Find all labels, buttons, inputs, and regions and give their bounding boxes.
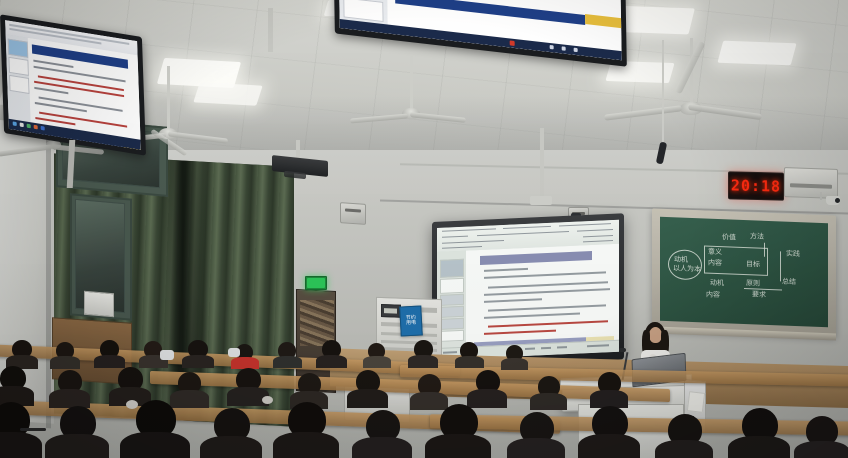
monitor-screen: [338, 0, 621, 60]
bench-row: [430, 414, 848, 436]
clock-time: 20:18: [731, 176, 781, 195]
ac-vent: [790, 184, 832, 189]
student-shoulders: [352, 437, 412, 458]
fan-rod: [410, 56, 413, 110]
chalk-note: 价值: [722, 233, 736, 243]
student-shoulders: [363, 356, 391, 368]
energy-sign-text: 节约 用电: [406, 315, 417, 327]
student-shoulders: [0, 432, 42, 458]
chalk-note: 以人为本: [673, 264, 701, 274]
face-mask: [160, 350, 174, 360]
hair-accessory: [262, 396, 273, 404]
student-shoulders: [408, 355, 438, 368]
eyeglasses: [20, 428, 46, 431]
student-shoulders: [170, 390, 209, 408]
student-shoulders: [316, 355, 347, 368]
face-mask: [228, 348, 240, 357]
monitor-mount-arm: [268, 8, 273, 52]
student-shoulders: [794, 441, 848, 458]
camera-mount: [820, 192, 822, 200]
hair-accessory: [126, 400, 138, 409]
monitor-screen: [5, 20, 141, 150]
led-wall-clock: 20:18: [728, 171, 784, 200]
student-shoulders: [347, 389, 388, 408]
student-shoulders: [200, 436, 262, 458]
camera-lens: [835, 198, 840, 203]
interactive-whiteboard-screen[interactable]: [437, 220, 619, 360]
green-chalkboard[interactable]: 动机 以人为本 意义 内容 价值 方法 目标 原则 要求 实践 总结 动机 内容: [660, 217, 828, 327]
student-shoulders: [578, 434, 640, 458]
student-shoulders: [182, 355, 214, 368]
ceiling-fan: [636, 38, 746, 134]
meter-display: [384, 308, 397, 313]
page-thumbnail[interactable]: [440, 278, 464, 294]
chalk-note: 意义: [708, 248, 722, 258]
projector-mount-rod: [540, 128, 544, 198]
fan-rod: [167, 66, 170, 130]
student-shoulders: [530, 393, 567, 410]
document-heading-bar: [480, 251, 592, 265]
chalk-note: 方法: [750, 232, 764, 242]
page-thumbnail[interactable]: [440, 306, 464, 318]
security-camera: [826, 196, 840, 205]
student-shoulders: [728, 436, 790, 458]
student-shoulders: [273, 356, 302, 368]
student-shoulders: [455, 356, 484, 368]
exit-sign-glow: [307, 278, 325, 288]
page-thumbnail[interactable]: [8, 57, 29, 76]
student-shoulders: [410, 392, 448, 410]
student-shoulders: [49, 389, 90, 408]
chalk-note: 动机: [710, 279, 724, 289]
chalk-note: 目标: [746, 260, 760, 270]
wall-speaker: [340, 202, 366, 225]
student-shoulders: [655, 440, 713, 458]
hanging-microphone: [662, 40, 664, 144]
chalk-note: 内容: [708, 259, 722, 269]
speaker-grill: [345, 209, 360, 213]
student-shoulders: [231, 357, 259, 369]
wall-air-conditioner: [784, 167, 838, 199]
emergency-exit-sign: [305, 276, 327, 290]
page-thumbnail[interactable]: [8, 39, 29, 58]
ceiling-monitor-left: [0, 18, 150, 178]
student-shoulders: [45, 434, 109, 458]
chalk-note: 实践: [786, 250, 800, 260]
shelf-box: [84, 291, 114, 318]
student-shoulders: [50, 356, 80, 369]
chalk-note: 原则: [746, 279, 760, 289]
student-shoulders: [467, 389, 507, 408]
energy-saving-sign: 节约 用电: [399, 305, 423, 336]
chalk-brace: [780, 251, 781, 281]
page-thumbnail[interactable]: [440, 294, 464, 306]
chalk-note: 内容: [706, 291, 720, 301]
page-thumbnail[interactable]: [440, 318, 464, 330]
student-shoulders: [501, 358, 528, 370]
page-thumbnail[interactable]: [9, 75, 30, 94]
lecture-hall-photo: 20:18 动机 以人为本 意义 内容 价值 方法 目标 原则 要求 实践 总结…: [0, 0, 848, 458]
document-view: [5, 20, 141, 150]
seated-students: [0, 340, 848, 458]
student-shoulders: [120, 432, 190, 458]
document-view: [338, 0, 621, 60]
footer-blue-bar: [395, 0, 585, 25]
student-shoulders: [425, 434, 491, 458]
chalk-arrow: [764, 243, 765, 257]
page-thumbnail[interactable]: [440, 259, 464, 278]
electric-meter: [381, 304, 401, 318]
page-thumbnail[interactable]: [343, 0, 383, 22]
student-shoulders: [273, 432, 339, 458]
document-page: [466, 243, 619, 348]
student-shoulders: [507, 438, 565, 458]
chalk-note: 要求: [752, 290, 766, 300]
student-shoulders: [94, 355, 125, 368]
ceiling-fan: [372, 56, 450, 142]
projector-mount-plate: [530, 196, 552, 205]
ceiling-monitor-center: [334, 0, 634, 62]
chalk-note: 总结: [782, 277, 796, 287]
footer-accent: [585, 14, 622, 28]
